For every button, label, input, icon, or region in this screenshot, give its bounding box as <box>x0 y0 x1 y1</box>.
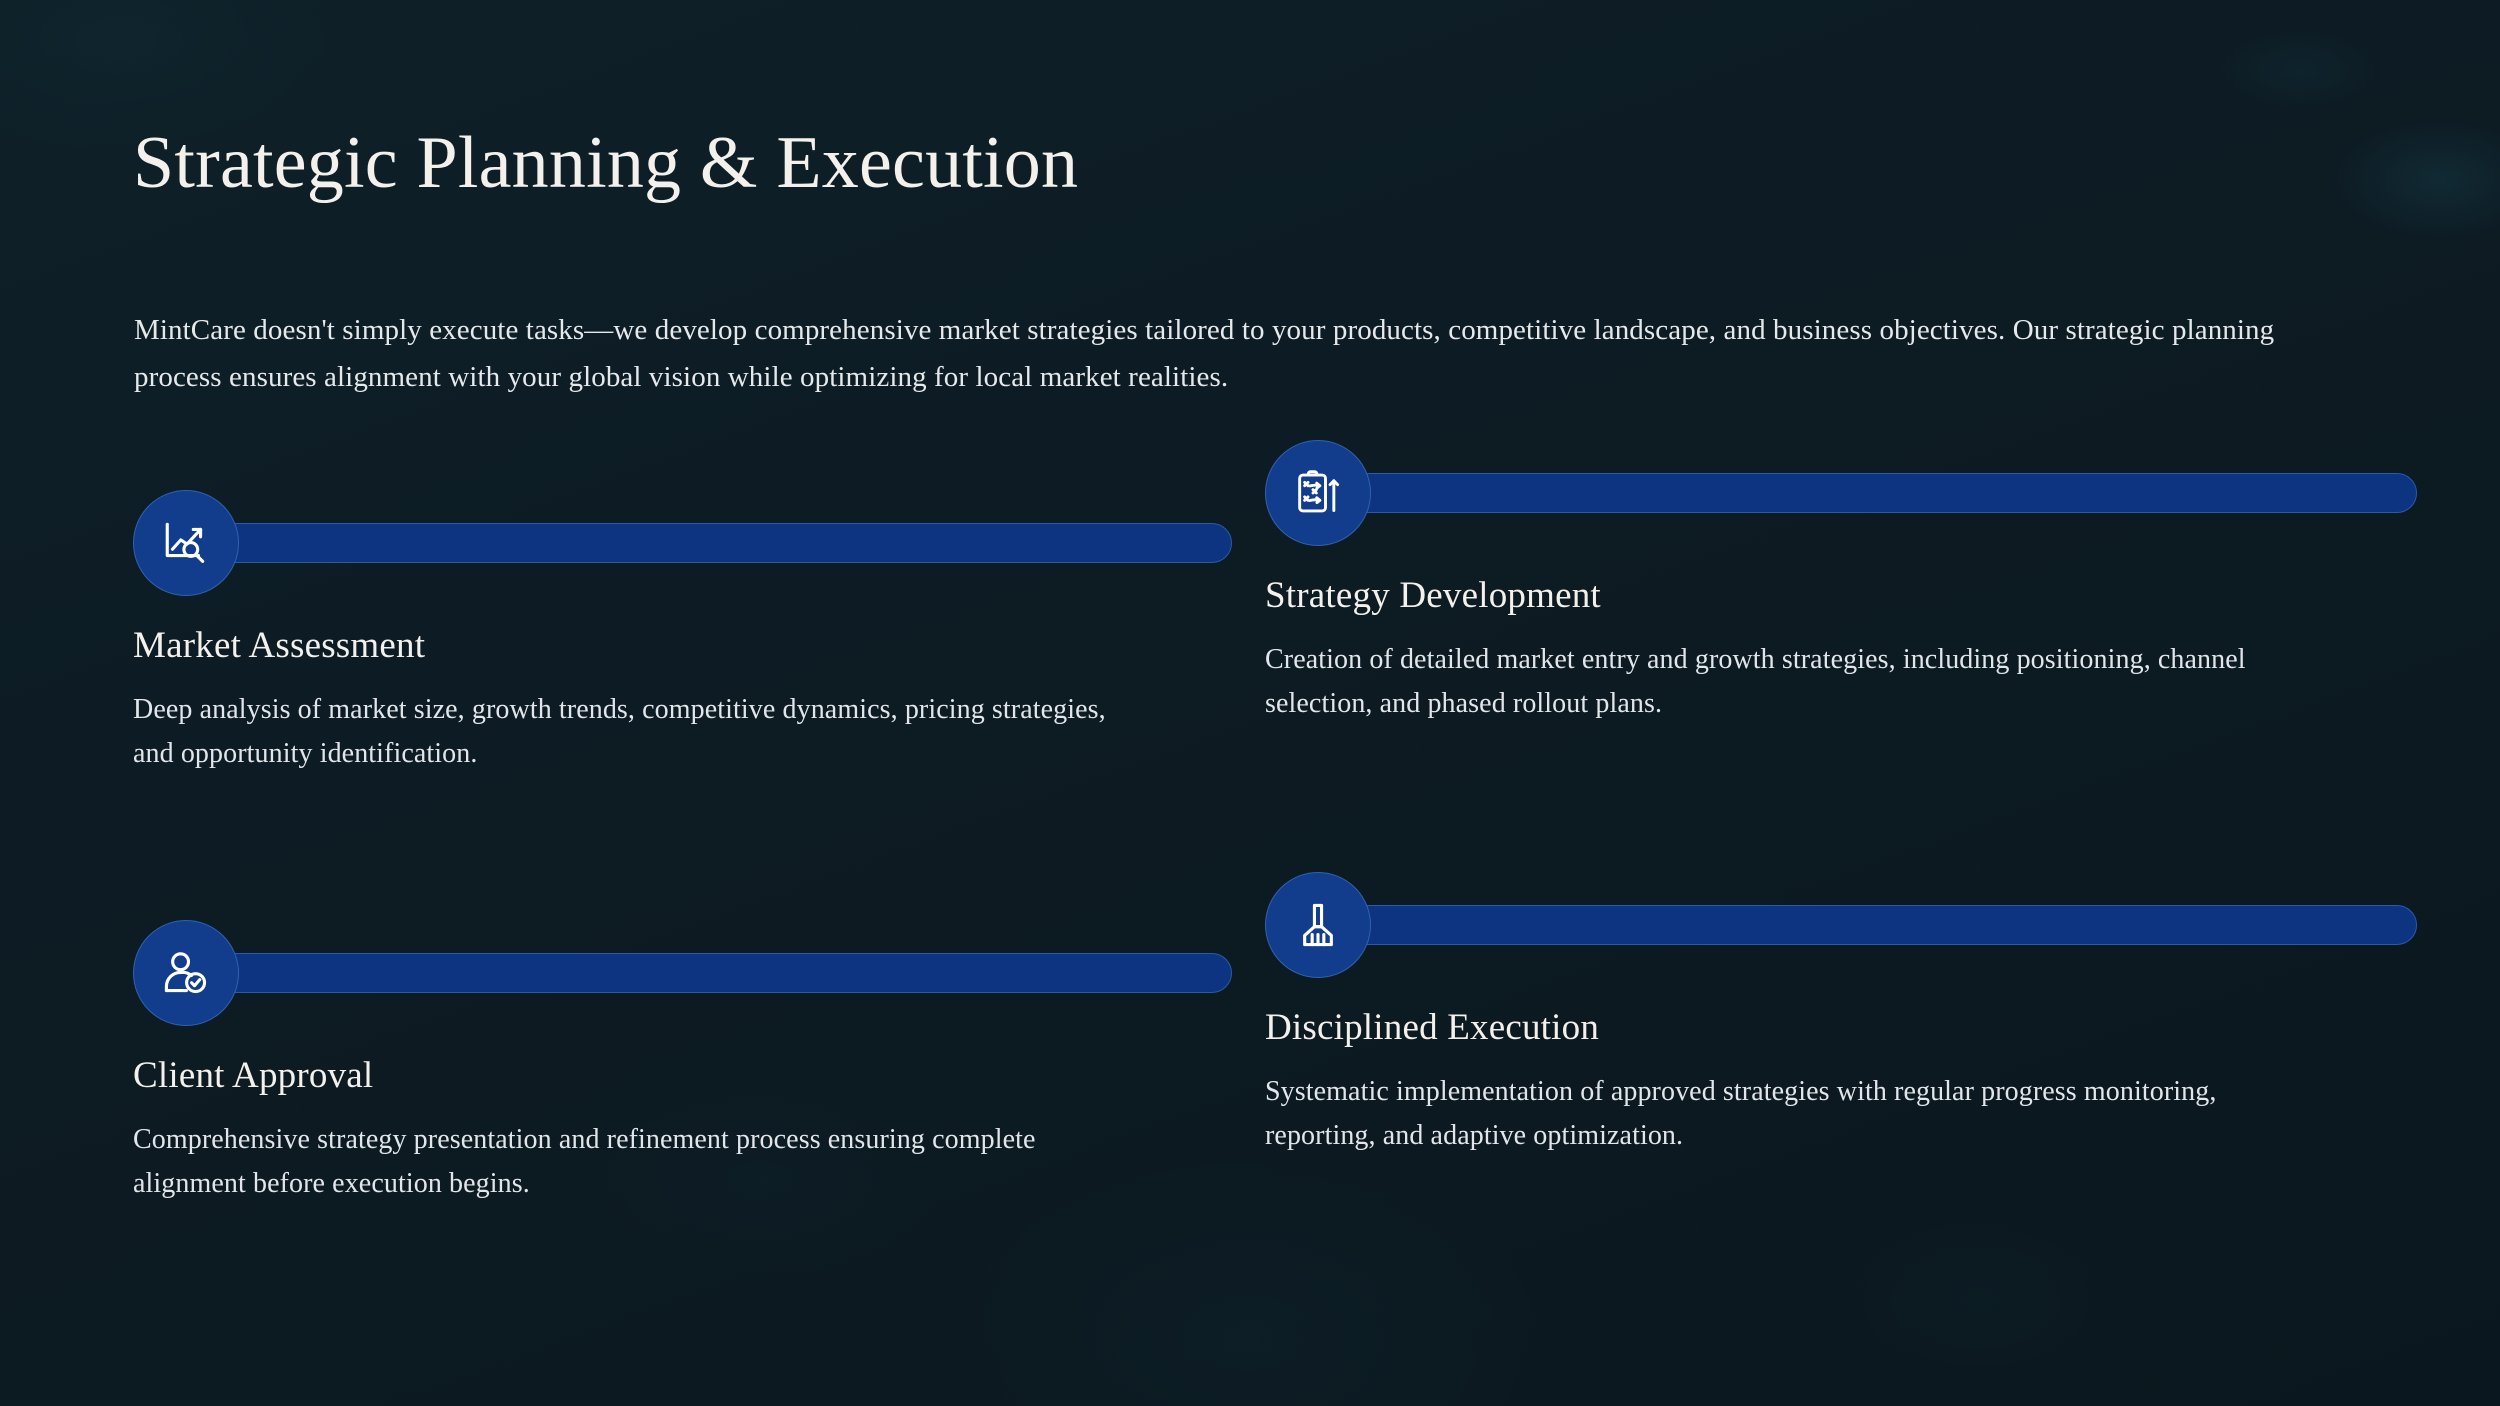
card-title: Disciplined Execution <box>1265 1006 2385 1050</box>
slide-content: Strategic Planning & Execution MintCare … <box>0 0 2500 1406</box>
card-description: Comprehensive strategy presentation and … <box>133 1118 1143 1205</box>
card-icon-badge <box>1265 872 1371 978</box>
card-strategy-development[interactable]: Strategy Development Creation of detaile… <box>1265 440 2385 725</box>
card-description: Deep analysis of market size, growth tre… <box>133 688 1143 775</box>
clipboard-strategy-icon <box>1293 468 1343 518</box>
card-accent-bar <box>185 953 1232 993</box>
card-title: Market Assessment <box>133 624 1253 668</box>
card-title: Client Approval <box>133 1054 1253 1098</box>
broom-icon <box>1293 900 1343 950</box>
page-title: Strategic Planning & Execution <box>133 126 1078 200</box>
card-header <box>133 920 1253 1026</box>
card-accent-bar <box>185 523 1232 563</box>
card-icon-badge <box>1265 440 1371 546</box>
card-description: Creation of detailed market entry and gr… <box>1265 638 2295 725</box>
card-client-approval[interactable]: Client Approval Comprehensive strategy p… <box>133 920 1253 1205</box>
card-accent-bar <box>1317 473 2417 513</box>
card-market-assessment[interactable]: Market Assessment Deep analysis of marke… <box>133 490 1253 775</box>
card-icon-badge <box>133 920 239 1026</box>
card-title: Strategy Development <box>1265 574 2385 618</box>
card-header <box>1265 872 2385 978</box>
chart-magnifier-icon <box>161 518 211 568</box>
intro-paragraph: MintCare doesn't simply execute tasks—we… <box>134 307 2334 401</box>
card-header <box>133 490 1253 596</box>
card-description: Systematic implementation of approved st… <box>1265 1070 2295 1157</box>
card-icon-badge <box>133 490 239 596</box>
card-disciplined-execution[interactable]: Disciplined Execution Systematic impleme… <box>1265 872 2385 1157</box>
user-approved-icon <box>161 948 211 998</box>
card-accent-bar <box>1317 905 2417 945</box>
card-header <box>1265 440 2385 546</box>
